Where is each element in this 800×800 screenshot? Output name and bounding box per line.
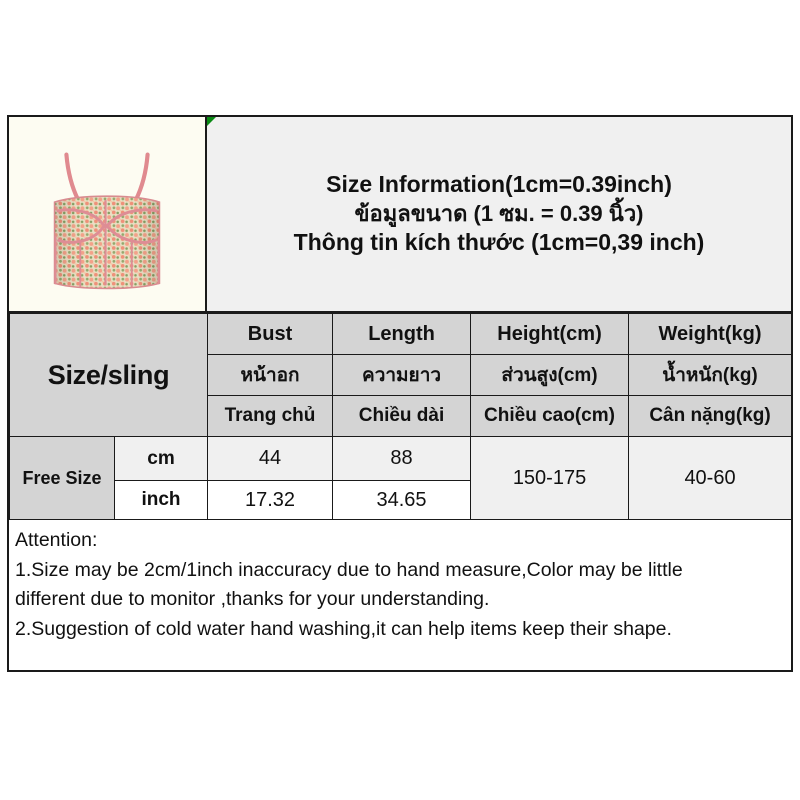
value-weight-range: 40-60	[629, 437, 792, 520]
attention-note-2: 2.Suggestion of cold water hand washing,…	[15, 615, 785, 645]
title-thai: ข้อมูลขนาด (1 ซม. = 0.39 นิ้ว)	[354, 200, 643, 228]
attention-note-1-line-2: different due to monitor ,thanks for you…	[15, 585, 785, 615]
attention-heading: Attention:	[15, 526, 785, 556]
value-length-inch: 34.65	[333, 481, 471, 520]
size-table: Size/sling Bust Length Height(cm) Weight…	[9, 313, 792, 520]
column-header-bust-th: หน้าอก	[208, 355, 333, 396]
value-length-cm: 88	[333, 437, 471, 481]
column-header-length-th: ความยาว	[333, 355, 471, 396]
value-height-range: 150-175	[471, 437, 629, 520]
title-english: Size Information(1cm=0.39inch)	[326, 170, 672, 199]
column-header-height-vi: Chiều cao(cm)	[471, 396, 629, 437]
green-corner-marker	[207, 117, 216, 126]
size-chart-card: Size Information(1cm=0.39inch) ข้อมูลขนา…	[7, 115, 793, 672]
product-photo-cell	[9, 117, 207, 311]
column-header-bust-en: Bust	[208, 314, 333, 355]
column-header-height-en: Height(cm)	[471, 314, 629, 355]
attention-block: Attention: 1.Size may be 2cm/1inch inacc…	[9, 520, 791, 645]
column-header-weight-th: น้ำหนัก(kg)	[629, 355, 792, 396]
attention-note-1-line-1: 1.Size may be 2cm/1inch inaccuracy due t…	[15, 556, 785, 586]
column-header-height-th: ส่วนสูง(cm)	[471, 355, 629, 396]
value-bust-inch: 17.32	[208, 481, 333, 520]
column-header-length-en: Length	[333, 314, 471, 355]
table-row-header-en: Size/sling Bust Length Height(cm) Weight…	[10, 314, 792, 355]
column-header-length-vi: Chiều dài	[333, 396, 471, 437]
title-vietnamese: Thông tin kích thước (1cm=0,39 inch)	[294, 228, 705, 257]
camisole-top-image	[9, 117, 205, 311]
size-name-free-size: Free Size	[10, 437, 115, 520]
table-row-cm: Free Size cm 44 88 150-175 40-60	[10, 437, 792, 481]
column-header-bust-vi: Trang chủ	[208, 396, 333, 437]
unit-label-inch: inch	[115, 481, 208, 520]
chart-header-block: Size Information(1cm=0.39inch) ข้อมูลขนา…	[9, 117, 791, 313]
title-banner: Size Information(1cm=0.39inch) ข้อมูลขนา…	[207, 117, 791, 311]
unit-label-cm: cm	[115, 437, 208, 481]
size-sling-label: Size/sling	[10, 314, 208, 437]
column-header-weight-en: Weight(kg)	[629, 314, 792, 355]
value-bust-cm: 44	[208, 437, 333, 481]
column-header-weight-vi: Cân nặng(kg)	[629, 396, 792, 437]
